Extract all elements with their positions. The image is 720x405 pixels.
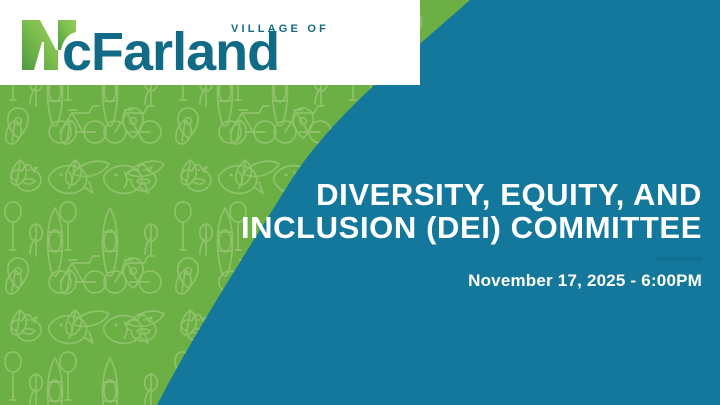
logo-eyebrow: VILLAGE OF [231, 23, 329, 35]
title-divider [656, 257, 702, 261]
event-datetime: November 17, 2025 - 6:00PM [222, 271, 702, 291]
village-logo: cFarland VILLAGE OF [18, 12, 358, 76]
event-title-card: cFarland VILLAGE OF DIVERSITY, EQUITY, A… [0, 0, 720, 405]
event-content: DIVERSITY, EQUITY, AND INCLUSION (DEI) C… [222, 178, 702, 291]
event-title: DIVERSITY, EQUITY, AND INCLUSION (DEI) C… [222, 178, 702, 245]
